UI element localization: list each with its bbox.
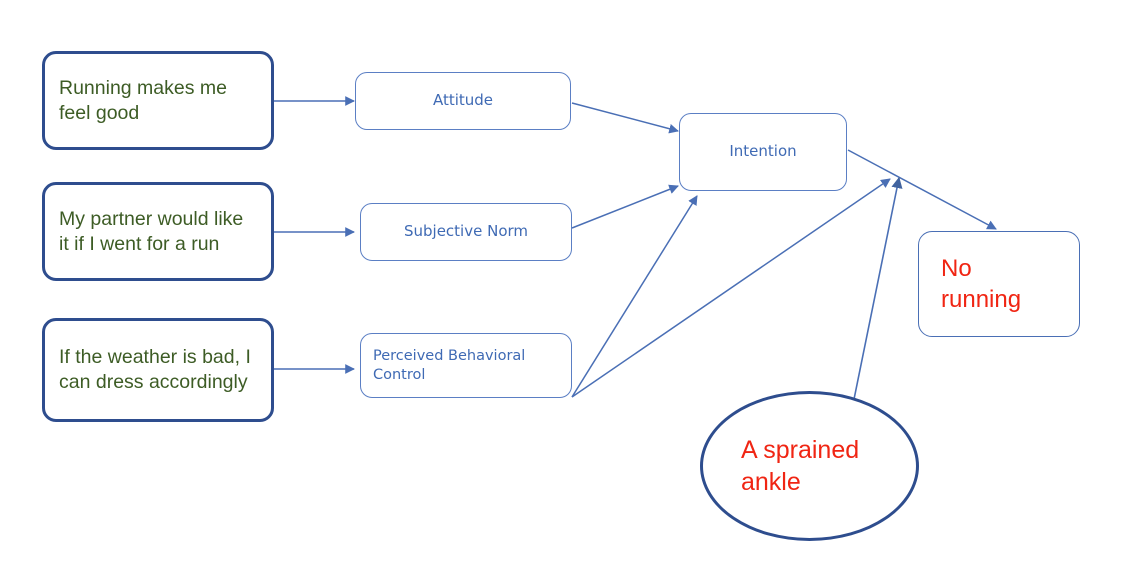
construct-box-perceived-behavioral-control[interactable]: Perceived Behavioral Control (360, 333, 572, 398)
connector-intention-to-no-running (848, 150, 996, 229)
construct-box-subjective-norm[interactable]: Subjective Norm (360, 203, 572, 261)
belief-box-normative[interactable]: My partner would like it if I went for a… (42, 182, 274, 281)
connector-pbc-to-no-running (572, 179, 890, 397)
outcome-label-no-running: No running (941, 253, 1057, 315)
construct-label-subjective-norm: Subjective Norm (373, 222, 559, 242)
belief-label-control: If the weather is bad, I can dress accor… (59, 345, 257, 395)
barrier-label-sprained-ankle: A sprained ankle (741, 434, 916, 498)
construct-label-attitude: Attitude (368, 91, 558, 111)
belief-box-control[interactable]: If the weather is bad, I can dress accor… (42, 318, 274, 422)
connector-pbc-to-intention (572, 196, 697, 397)
construct-box-intention[interactable]: Intention (679, 113, 847, 191)
connector-ankle-to-no-running (851, 178, 899, 414)
connector-attitude-to-intention (572, 103, 678, 131)
barrier-ellipse-sprained-ankle[interactable]: A sprained ankle (700, 391, 919, 541)
construct-label-perceived-behavioral-control: Perceived Behavioral Control (373, 347, 559, 385)
belief-label-behavioral: Running makes me feel good (59, 76, 257, 126)
belief-label-normative: My partner would like it if I went for a… (59, 207, 257, 257)
diagram-canvas: Running makes me feel good My partner wo… (0, 0, 1122, 588)
construct-box-attitude[interactable]: Attitude (355, 72, 571, 130)
construct-label-intention: Intention (692, 142, 834, 162)
connector-subjective-norm-to-intention (572, 186, 678, 228)
outcome-box-no-running[interactable]: No running (918, 231, 1080, 337)
belief-box-behavioral[interactable]: Running makes me feel good (42, 51, 274, 150)
